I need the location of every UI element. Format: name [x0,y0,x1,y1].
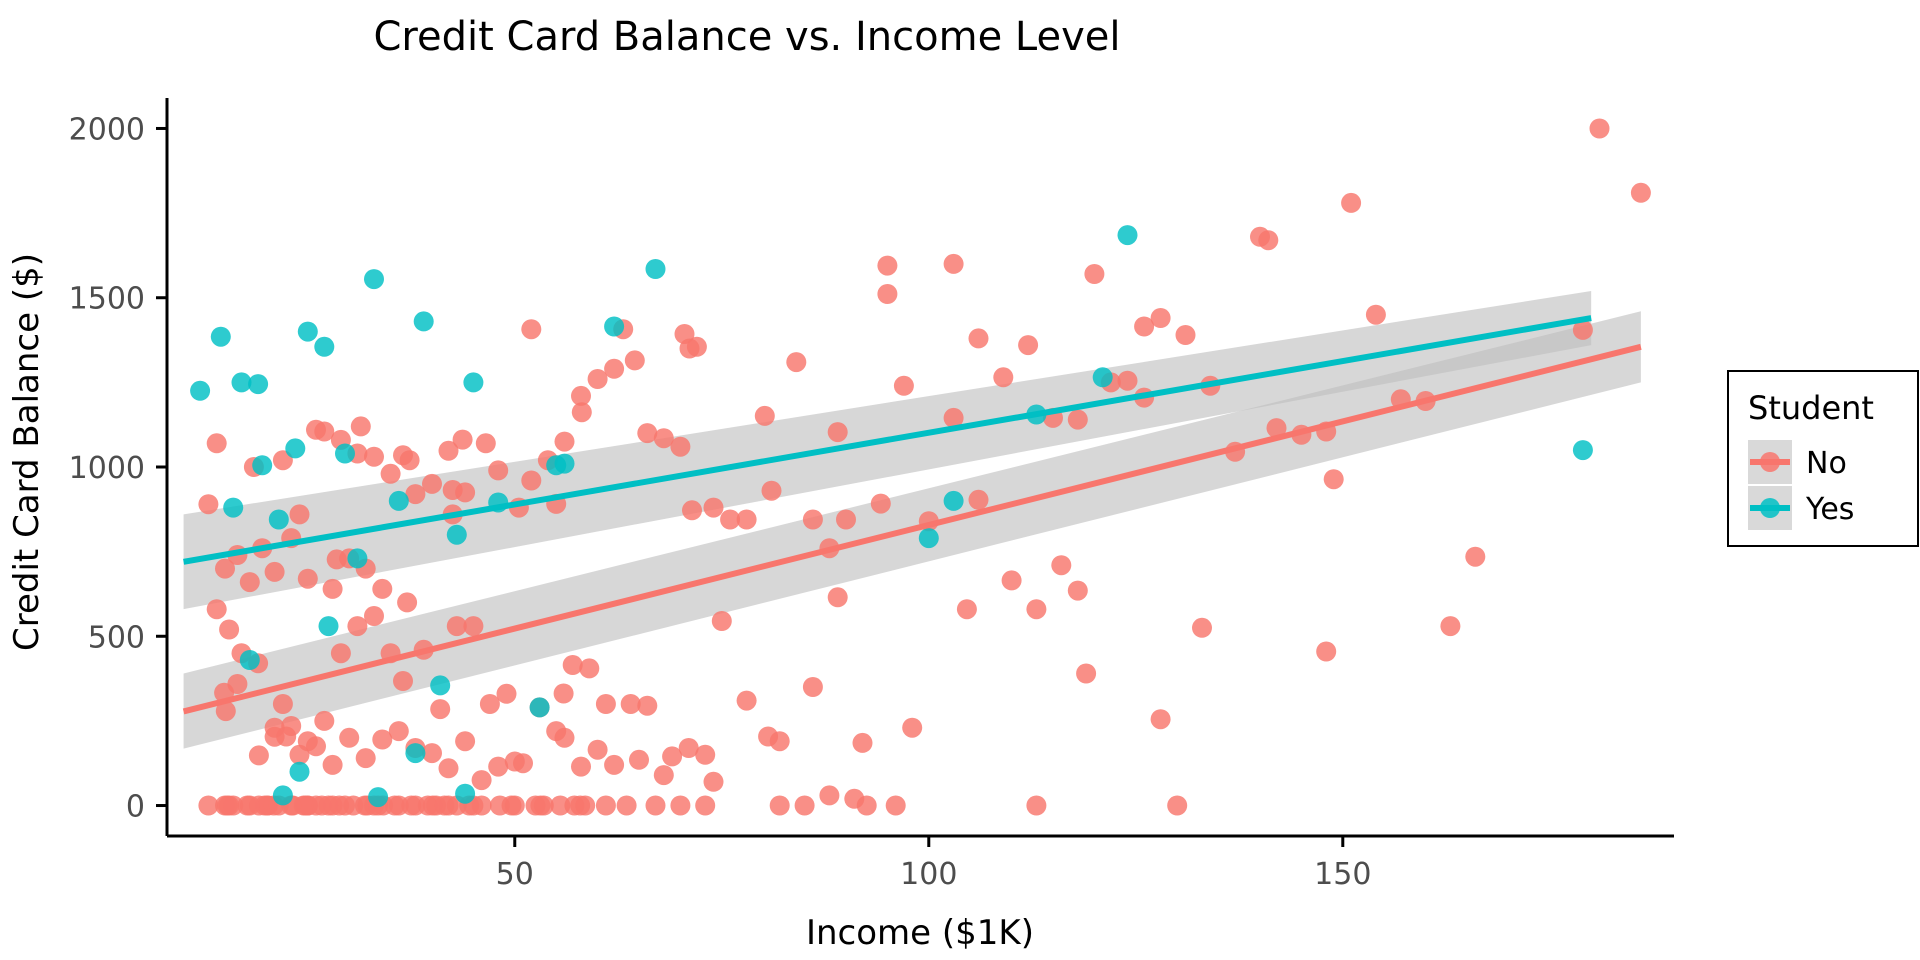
data-point [290,504,310,524]
data-point [993,367,1013,387]
data-point [1118,225,1138,245]
data-point [670,796,690,816]
data-point [298,569,318,589]
data-point [654,765,674,785]
data-point [505,796,525,816]
data-point [393,671,413,691]
x-tick-label: 50 [496,857,534,892]
data-point [347,616,367,636]
data-point [902,718,922,738]
data-point [579,658,599,678]
data-point [646,796,666,816]
data-point [368,787,388,807]
data-point [455,731,475,751]
data-point [1167,796,1187,816]
data-point [1316,642,1336,662]
data-point [314,337,334,357]
data-point [207,433,227,453]
data-point [844,789,864,809]
data-point [969,490,989,510]
data-point [679,738,699,758]
data-point [646,259,666,279]
data-point [447,525,467,545]
data-point [737,510,757,530]
data-point [828,422,848,442]
data-point [604,359,624,379]
y-tick-label: 0 [126,790,145,825]
data-point [472,770,492,790]
data-point [439,758,459,778]
data-point [795,796,815,816]
data-point [625,350,645,370]
data-point [269,510,289,530]
data-point [770,796,790,816]
x-tick-label: 100 [900,857,957,892]
data-point [521,471,541,491]
data-point [319,796,339,816]
data-point [211,327,231,347]
data-point [877,256,897,276]
data-point [447,616,467,636]
data-point [319,616,339,636]
data-point [1068,410,1088,430]
data-point [323,579,343,599]
data-point [1176,325,1196,345]
data-point [1151,709,1171,729]
data-point [555,728,575,748]
data-point [596,694,616,714]
y-tick-label: 1500 [69,282,145,317]
data-point [894,376,914,396]
legend-entry-label: Yes [1805,492,1854,527]
data-point [530,697,550,717]
data-point [575,796,595,816]
legend[interactable]: Student NoYes [1728,371,1918,546]
data-point [571,386,591,406]
data-point [389,721,409,741]
data-point [588,369,608,389]
data-point [434,796,454,816]
data-point [563,655,583,675]
data-point [273,694,293,714]
data-point [670,437,690,457]
data-point [770,731,790,751]
data-point [331,643,351,663]
data-point [323,755,343,775]
data-point [1324,469,1344,489]
data-point [430,699,450,719]
data-point [488,460,508,480]
data-point [712,611,732,631]
data-point [335,444,355,464]
data-point [737,691,757,711]
data-point [944,254,964,274]
data-point [604,317,624,337]
data-point [497,684,517,704]
data-point [455,482,475,502]
data-point [1341,193,1361,213]
data-point [290,762,310,782]
data-point [480,694,500,714]
data-point [1051,555,1071,575]
data-point [1631,183,1651,203]
data-point [1573,440,1593,460]
data-point [521,319,541,339]
data-point [695,796,715,816]
figure-background [0,0,1920,960]
data-point [364,269,384,289]
data-point [1018,335,1038,355]
data-point [621,694,641,714]
data-point [877,284,897,304]
data-point [455,784,475,804]
data-point [430,675,450,695]
data-point [249,745,269,765]
data-point [596,796,616,816]
data-point [314,711,334,731]
data-point [604,755,624,775]
data-point [571,757,591,777]
scatter-plot-figure: Credit Card Balance vs. Income Level 501… [0,0,1920,960]
data-point [1258,230,1278,250]
data-point [397,592,417,612]
data-point [198,494,218,514]
x-axis-label: Income ($1K) [806,913,1034,953]
data-point [617,796,637,816]
y-tick-label: 500 [88,620,145,655]
legend-entry-label: No [1806,446,1847,481]
data-point [1440,616,1460,636]
y-axis-label: Credit Card Balance ($) [7,253,47,651]
data-point [1590,119,1610,139]
data-point [819,785,839,805]
data-point [463,372,483,392]
data-point [1192,618,1212,638]
data-point [1465,547,1485,567]
data-point [704,772,724,792]
data-point [944,491,964,511]
data-point [786,352,806,372]
data-point [364,447,384,467]
data-point [853,733,873,753]
data-point [372,579,392,599]
data-point [526,796,546,816]
data-point [957,599,977,619]
data-point [505,752,525,772]
data-point [682,500,702,520]
chart-title: Credit Card Balance vs. Income Level [374,14,1121,60]
data-point [240,572,260,592]
data-point [886,796,906,816]
data-point [347,548,367,568]
legend-key-point [1760,498,1780,518]
data-point [248,374,268,394]
data-point [687,337,707,357]
data-point [422,474,442,494]
data-point [588,740,608,760]
data-point [704,498,724,518]
legend-key-point [1760,452,1780,472]
data-point [1118,371,1138,391]
data-point [240,650,260,670]
data-point [554,684,574,704]
data-point [836,510,856,530]
data-point [190,381,210,401]
x-tick-label: 150 [1314,857,1371,892]
data-point [629,750,649,770]
data-point [405,743,425,763]
data-point [969,328,989,348]
data-point [1366,305,1386,325]
data-point [803,510,823,530]
data-point [339,728,359,748]
data-point [1002,570,1022,590]
data-point [1084,264,1104,284]
data-point [389,491,409,511]
data-point [285,438,305,458]
data-point [803,677,823,697]
data-point [381,464,401,484]
data-point [871,494,891,514]
data-point [1151,308,1171,328]
data-point [439,441,459,461]
data-point [227,674,247,694]
data-point [252,455,272,475]
data-point [1093,367,1113,387]
data-point [828,587,848,607]
data-point [298,322,318,342]
data-point [265,562,285,582]
data-point [219,620,239,640]
data-point [476,433,496,453]
data-point [762,481,782,501]
data-point [755,406,775,426]
data-point [198,796,218,816]
data-point [555,432,575,452]
data-point [223,498,243,518]
data-point [1076,664,1096,684]
data-point [919,528,939,548]
legend-title: Student [1748,389,1874,427]
data-point [364,606,384,626]
chart-root: Credit Card Balance vs. Income Level 501… [0,0,1920,960]
y-tick-label: 1000 [69,451,145,486]
data-point [356,748,376,768]
data-point [223,796,243,816]
data-point [306,736,326,756]
data-point [273,785,293,805]
data-point [294,796,314,816]
data-point [550,796,570,816]
data-point [207,599,227,619]
data-point [351,416,371,436]
data-point [546,455,566,475]
data-point [414,311,434,331]
data-point [265,718,285,738]
data-point [1026,599,1046,619]
data-point [1026,796,1046,816]
y-tick-label: 2000 [69,112,145,147]
data-point [393,445,413,465]
data-point [1068,581,1088,601]
